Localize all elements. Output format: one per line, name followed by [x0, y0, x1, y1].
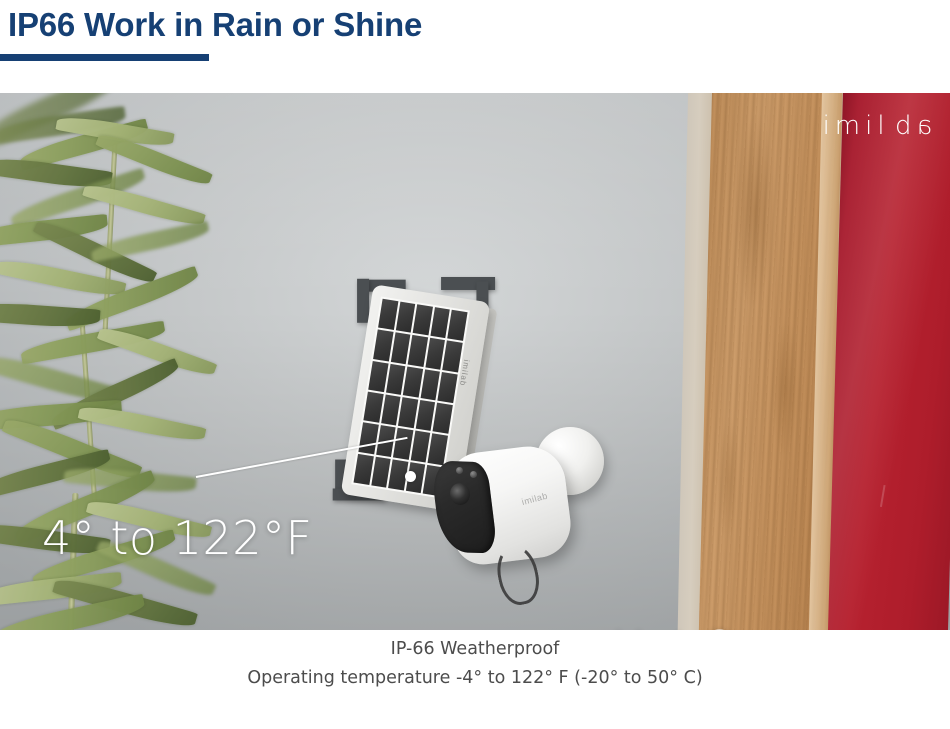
- solar-cell: [363, 392, 383, 423]
- solar-cell: [373, 330, 393, 361]
- page-title: IP66 Work in Rain or Shine: [8, 6, 422, 44]
- solar-cell: [403, 366, 423, 397]
- photo-caption: IP-66 Weatherproof Operating temperature…: [0, 636, 950, 693]
- overlay-temperature-range: 4° to 122°F: [42, 511, 312, 565]
- solar-cell: [408, 335, 428, 366]
- page-header: IP66 Work in Rain or Shine: [0, 0, 950, 93]
- solar-cell: [411, 431, 431, 462]
- solar-cell: [354, 454, 374, 485]
- leaf: [78, 402, 207, 445]
- overlay-season-label: Hot Summer: [612, 622, 895, 630]
- camera-ir-led: [456, 467, 463, 474]
- brand-logo-text-part2: ab: [890, 111, 932, 141]
- caption-line-1: IP-66 Weatherproof: [0, 636, 950, 663]
- solar-cell: [448, 310, 468, 341]
- camera-ir-led: [470, 471, 477, 478]
- security-camera: imilab: [432, 441, 612, 611]
- solar-cell: [438, 372, 458, 403]
- solar-cell: [368, 361, 388, 392]
- caption-line-2: Operating temperature -4° to 122° F (-20…: [0, 663, 950, 693]
- solar-cell: [413, 304, 433, 335]
- solar-cell: [433, 403, 453, 434]
- imilab-brand-logo: imilab: [823, 111, 932, 141]
- solar-cell: [415, 400, 435, 431]
- red-door-sheen: [828, 93, 950, 630]
- callout-anchor-dot: [405, 471, 416, 482]
- solar-cell: [393, 428, 413, 459]
- brand-logo-text-part1: imil: [823, 111, 890, 141]
- solar-cell: [398, 397, 418, 428]
- title-underline-accent: [0, 54, 209, 61]
- solar-cell: [425, 338, 445, 369]
- solar-cell: [371, 456, 391, 487]
- solar-cell: [391, 333, 411, 364]
- camera-brand-label: imilab: [521, 491, 549, 508]
- solar-cell: [378, 299, 398, 330]
- product-scene-photo: imilab imilab 4° to 122°F Hot Summer imi…: [0, 93, 950, 630]
- solar-cell: [420, 369, 440, 400]
- red-door: [828, 93, 950, 630]
- solar-cell: [358, 423, 378, 454]
- solar-cell: [381, 394, 401, 425]
- solar-cell: [395, 302, 415, 333]
- solar-cell: [443, 341, 463, 372]
- solar-cell: [386, 363, 406, 394]
- mount-bracket-top-left-arm: [357, 279, 369, 323]
- solar-cell: [430, 307, 450, 338]
